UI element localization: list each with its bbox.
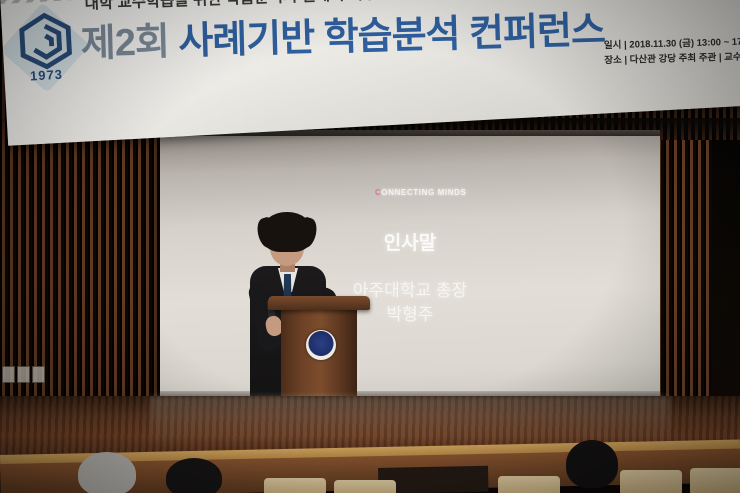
audience-head-gray [78, 452, 136, 493]
slide-brand-logo: CONNECTING MINDS [375, 188, 495, 197]
podium-top [268, 296, 370, 310]
university-seal-icon [306, 330, 336, 360]
banner-title: 제2회 사례기반 학습분석 컨퍼런스 [80, 0, 606, 67]
slide-brand-rest: ONNECTING MINDS [381, 188, 466, 197]
conference-photo-scene: CONNECTING MINDS 인사말 아주대학교 총장 박형주 [0, 0, 740, 493]
ajou-emblem-icon [15, 10, 76, 71]
audience-head-dark-right [566, 440, 618, 488]
banner-title-main: 사례기반 학습분석 컨퍼런스 [178, 10, 606, 63]
audience-chair-5 [690, 468, 740, 493]
audience-chair-2 [334, 480, 396, 493]
logo-year: 1973 [8, 66, 85, 85]
audience-head-dark-left [166, 458, 222, 493]
ajou-logo: 1973 [5, 8, 86, 98]
wall-switch-plate-3 [32, 366, 45, 383]
wall-switch-plate-1 [2, 366, 15, 383]
banner-place-line: 장소 | 다산관 강당 주최 주관 | 교수학습 [604, 50, 740, 69]
banner-title-prefix: 제2회 [80, 21, 169, 65]
audience-chair-4 [620, 470, 682, 493]
audience-chair-3 [498, 476, 560, 493]
wall-switch-plate-2 [17, 366, 30, 383]
right-dark-wall [712, 140, 740, 412]
banner-info-block: 일시 | 2018.11.30 (금) 13:00 ~ 17:10 장소 | 다… [604, 35, 740, 68]
audience-chair-1 [264, 478, 326, 493]
